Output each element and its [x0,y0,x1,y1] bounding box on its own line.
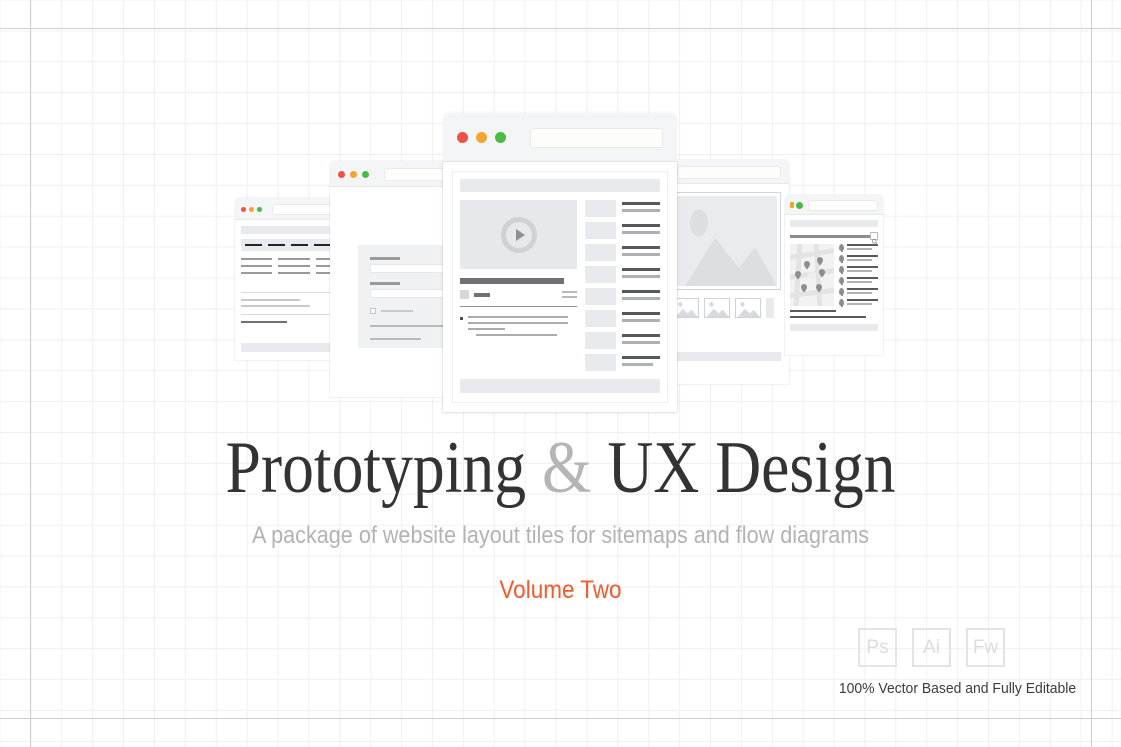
footer-note: 100% Vector Based and Fully Editable [839,680,1076,697]
list-item[interactable] [839,277,878,284]
fireworks-badge: Fw [966,628,1005,667]
image-placeholder-icon [705,299,729,317]
list-thumbnail [585,244,616,261]
minimize-button-icon[interactable] [790,202,794,208]
guide-line-vertical-left [30,0,31,747]
result-title [847,288,878,290]
window-titlebar [785,195,883,215]
table-column [278,258,309,284]
avatar [460,290,469,299]
thumbnail-strip[interactable] [673,298,781,318]
text-line [241,299,300,301]
play-button-icon[interactable] [501,217,537,253]
content-columns [460,200,660,371]
list-item[interactable] [585,288,660,305]
text-line [790,310,836,312]
list-item-text [622,332,660,344]
traffic-lights [338,171,374,178]
footer-bar [790,324,878,331]
item-title [622,312,660,315]
map-pin-icon [839,244,844,251]
minimize-button-icon[interactable] [476,132,487,143]
search-results-list[interactable] [839,244,878,306]
result-text [847,277,878,283]
list-item-text [622,222,660,234]
list-item[interactable] [839,255,878,262]
result-text [847,299,878,305]
next-thumbnails-button[interactable] [766,298,774,318]
list-item[interactable] [839,299,878,306]
sidebar-list[interactable] [585,200,660,371]
maximize-button-icon[interactable] [362,171,369,178]
nav-tab-item[interactable] [314,244,331,246]
item-subtitle [622,209,660,212]
result-title [847,255,878,257]
guide-line-horizontal-top [0,28,1121,29]
nav-tab-item[interactable] [245,244,262,246]
footer-bar [673,352,781,361]
item-title [622,268,660,271]
guide-line-vertical-right [1091,0,1092,747]
bulleted-text-block [460,316,577,336]
map-graphic [790,244,834,306]
photo-placeholder-icon [677,196,777,286]
text-line [241,305,310,307]
table-cell [278,272,309,274]
photo-frame [673,192,781,290]
list-item[interactable] [839,288,878,295]
result-subtitle [847,248,872,250]
item-title [622,290,660,293]
result-subtitle [847,303,872,305]
maximize-button-icon[interactable] [796,202,803,209]
item-title [622,356,660,359]
article-heading [460,278,564,284]
guide-line-horizontal-bottom [0,718,1121,719]
site-footer-bar [460,379,660,393]
map-pin-icon [839,277,844,284]
table-cell [241,272,272,274]
play-triangle-glyph [516,229,525,241]
text-line [468,316,568,318]
list-thumbnail [585,332,616,349]
title-part-two: UX Design [607,427,895,509]
list-item[interactable] [585,332,660,349]
window-content [785,215,883,355]
software-compatibility-badges: Ps Ai Fw [858,628,1005,667]
nav-tab-item[interactable] [291,244,308,246]
thumbnail[interactable] [704,298,730,318]
list-item-text [622,244,660,256]
title-ampersand: & [542,427,592,509]
result-subtitle [847,270,872,272]
item-subtitle [622,231,660,234]
result-title [847,299,878,301]
map-pin-icon [839,299,844,306]
list-thumbnail [585,200,616,217]
close-button-icon[interactable] [457,132,468,143]
list-item-text [622,266,660,278]
item-subtitle [622,297,660,300]
list-item[interactable] [585,200,660,217]
illustrator-badge: Ai [912,628,951,667]
address-bar[interactable] [808,200,878,211]
result-subtitle [847,281,872,283]
item-subtitle [622,363,653,366]
map-canvas[interactable] [790,244,834,306]
result-title [847,266,878,268]
map-footer-text [790,310,878,318]
divider [460,306,577,307]
text-line [468,322,568,324]
map-pin-icon [839,288,844,295]
site-header-bar [460,179,660,192]
window-titlebar [443,113,677,162]
list-item-text [622,288,660,300]
list-thumbnail [585,288,616,305]
result-subtitle [847,292,872,294]
minimize-button-icon[interactable] [350,171,357,178]
list-item-text [622,310,660,322]
map-pin-icon [839,255,844,262]
table-cell [241,265,272,267]
list-item[interactable] [585,266,660,283]
main-column [460,200,577,371]
list-item-text [622,200,660,212]
list-thumbnail [585,266,616,283]
map-search-window[interactable] [785,195,883,355]
field-label [370,257,400,260]
bullet-point-icon [460,317,463,320]
item-subtitle [622,275,660,278]
result-text [847,255,878,261]
toolbar [790,220,878,227]
maximize-button-icon[interactable] [257,207,262,212]
author-name [474,293,490,297]
text-line-emphasis [241,321,287,323]
item-title [622,224,660,227]
window-content [665,184,789,384]
map-search-field[interactable] [790,232,878,240]
magnifier-glyph [871,238,879,246]
text-line [476,334,557,336]
table-cell [241,258,272,260]
address-bar[interactable] [677,166,781,179]
nav-tab-item[interactable] [268,244,285,246]
map-and-results [790,244,878,306]
list-item[interactable] [839,266,878,273]
list-thumbnail [585,354,616,371]
traffic-lights [790,202,803,209]
field-label [370,282,400,285]
table-column [241,258,272,284]
result-text [847,266,878,272]
traffic-lights [457,132,514,143]
meta-line [562,296,577,298]
result-title [847,277,878,279]
result-subtitle [847,259,872,261]
list-item[interactable] [585,244,660,261]
meta-line [562,291,577,293]
maximize-button-icon[interactable] [495,132,506,143]
page-canvas [452,171,668,403]
page-title: Prototyping & UX Design [78,424,1042,512]
list-thumbnail [585,222,616,239]
text-line [468,328,505,330]
article-meta [562,291,577,298]
image-placeholder-icon [674,299,698,317]
minimize-button-icon[interactable] [249,207,254,212]
close-button-icon[interactable] [241,207,246,212]
video-player[interactable] [460,200,577,269]
result-text [847,288,878,294]
item-title [622,246,660,249]
paragraph-lines [468,316,577,336]
search-input[interactable] [790,235,870,238]
table-cell [278,258,309,260]
traffic-lights [241,207,265,212]
page-subtitle: A package of website layout tiles for si… [56,522,1065,550]
item-subtitle [622,319,660,322]
window-titlebar [665,160,789,184]
list-item[interactable] [585,222,660,239]
checkbox-label [381,310,413,312]
thumbnail[interactable] [735,298,761,318]
link-line[interactable] [370,338,421,340]
item-title [622,202,660,205]
text-line [790,316,866,318]
list-item[interactable] [585,310,660,327]
volume-label: Volume Two [56,576,1065,605]
list-item[interactable] [585,354,660,371]
photo-gallery-window[interactable] [665,160,789,384]
search-icon[interactable] [870,232,878,240]
map-pin-icon [839,266,844,273]
title-part-one: Prototyping [225,427,526,509]
article-with-video-window[interactable] [443,113,677,412]
image-placeholder-svg [677,196,777,286]
checkbox[interactable] [370,308,376,314]
item-subtitle [622,341,660,344]
image-placeholder-icon [736,299,760,317]
list-thumbnail [585,310,616,327]
close-button-icon[interactable] [338,171,345,178]
item-subtitle [622,253,660,256]
photoshop-badge: Ps [858,628,897,667]
item-title [622,334,660,337]
article-byline [460,290,577,299]
address-bar[interactable] [530,128,663,148]
table-cell [278,265,309,267]
window-content [443,162,677,412]
list-item-text [622,354,660,366]
